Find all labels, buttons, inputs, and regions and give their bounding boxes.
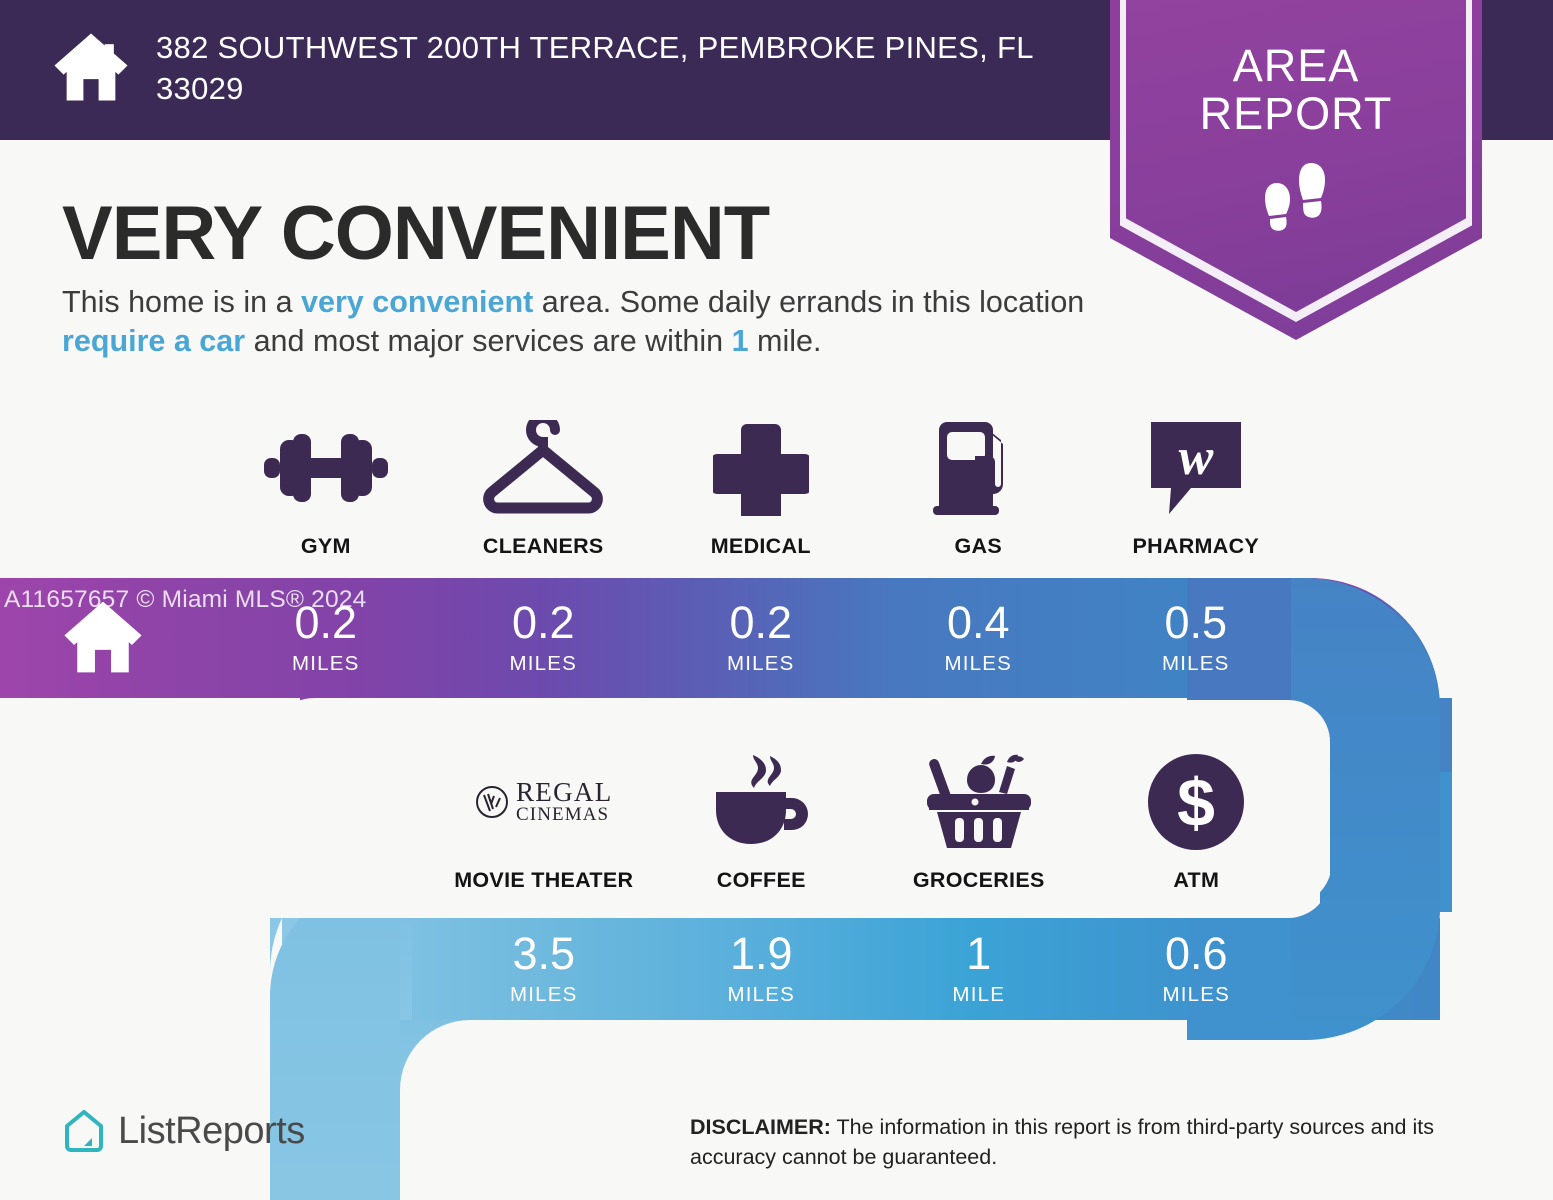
poi-label: MOVIE THEATER bbox=[454, 868, 633, 893]
home-icon bbox=[62, 600, 144, 674]
disclaimer: DISCLAIMER: The information in this repo… bbox=[690, 1113, 1500, 1172]
regal-cinemas-logo: REGAL CINEMAS bbox=[475, 748, 613, 856]
area-report-page: 382 SOUTHWEST 200TH TERRACE, PEMBROKE PI… bbox=[0, 0, 1553, 1200]
poi-label: COFFEE bbox=[717, 868, 806, 893]
poi-pharmacy[interactable]: w PHARMACY bbox=[1087, 414, 1305, 559]
poi-groceries[interactable]: GROCERIES bbox=[870, 748, 1088, 893]
dumbbell-icon bbox=[260, 414, 392, 522]
poi-coffee[interactable]: COFFEE bbox=[653, 748, 871, 893]
poi-cleaners[interactable]: CLEANERS bbox=[435, 414, 653, 559]
svg-text:$: $ bbox=[1177, 765, 1215, 841]
coffee-cup-icon bbox=[708, 748, 814, 856]
svg-text:w: w bbox=[1178, 429, 1213, 486]
poi-movie-theater[interactable]: REGAL CINEMAS MOVIE THEATER bbox=[435, 748, 653, 893]
regal-emblem-icon bbox=[475, 785, 509, 819]
disclaimer-label: DISCLAIMER: bbox=[690, 1115, 831, 1139]
listreports-logo[interactable]: ListReports bbox=[62, 1108, 305, 1154]
row1-icons: GYM CLEANERS MEDICAL bbox=[217, 414, 1305, 559]
poi-medical[interactable]: MEDICAL bbox=[652, 414, 870, 559]
gas-pump-icon bbox=[927, 414, 1029, 522]
grocery-basket-icon bbox=[923, 748, 1035, 856]
poi-label: GROCERIES bbox=[913, 868, 1045, 893]
regal-line-1: REGAL bbox=[516, 780, 613, 806]
poi-atm[interactable]: $ ATM bbox=[1088, 748, 1306, 893]
poi-gas[interactable]: GAS bbox=[870, 414, 1088, 559]
listreports-house-icon bbox=[62, 1108, 106, 1154]
dollar-circle-icon: $ bbox=[1146, 748, 1246, 856]
regal-line-2: CINEMAS bbox=[516, 806, 613, 824]
clothes-hanger-icon bbox=[480, 414, 606, 522]
walgreens-w-icon: w bbox=[1147, 414, 1245, 522]
medical-cross-icon bbox=[713, 414, 809, 522]
poi-label: GAS bbox=[955, 534, 1003, 559]
listreports-wordmark: ListReports bbox=[118, 1110, 305, 1153]
poi-label: MEDICAL bbox=[711, 534, 811, 559]
row2-icons: REGAL CINEMAS MOVIE THEATER COFFE bbox=[435, 748, 1305, 893]
poi-label: GYM bbox=[301, 534, 351, 559]
poi-label: CLEANERS bbox=[483, 534, 604, 559]
mls-watermark: A11657657 © Miami MLS® 2024 bbox=[4, 586, 366, 614]
poi-label: PHARMACY bbox=[1132, 534, 1259, 559]
poi-gym[interactable]: GYM bbox=[217, 414, 435, 559]
poi-label: ATM bbox=[1173, 868, 1219, 893]
